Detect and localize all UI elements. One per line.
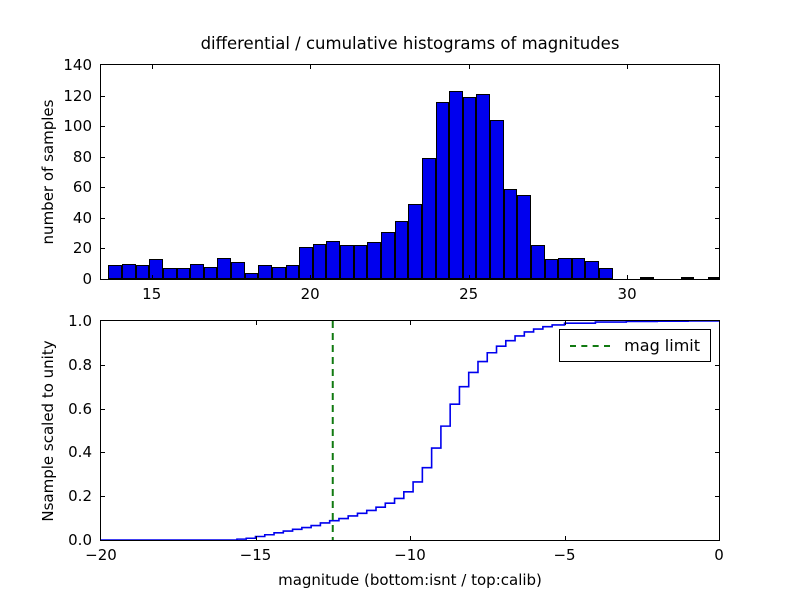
bottom-y-axis-label: Nsample scaled to unity bbox=[39, 340, 57, 521]
histogram-bar bbox=[190, 264, 204, 279]
histogram-bar bbox=[122, 264, 136, 279]
histogram-bar bbox=[286, 265, 300, 279]
y-tick-mark bbox=[715, 248, 719, 249]
histogram-bar bbox=[531, 245, 545, 279]
y-tick-mark bbox=[715, 96, 719, 97]
y-tick-label: 20 bbox=[73, 239, 92, 257]
histogram-bar bbox=[463, 97, 477, 279]
x-axis-label: magnitude (bottom:isnt / top:calib) bbox=[100, 571, 720, 589]
x-tick-mark bbox=[256, 321, 257, 325]
histogram-bar bbox=[517, 195, 531, 279]
histogram-bar bbox=[408, 204, 422, 279]
histogram-bar bbox=[326, 241, 340, 279]
y-tick-label: 0 bbox=[82, 270, 92, 288]
y-tick-mark bbox=[101, 96, 105, 97]
y-tick-mark bbox=[715, 218, 719, 219]
y-tick-mark bbox=[101, 218, 105, 219]
histogram-bar bbox=[272, 267, 286, 279]
y-tick-label: 120 bbox=[63, 87, 92, 105]
histogram-bar bbox=[367, 242, 381, 279]
x-tick-mark bbox=[627, 65, 628, 69]
histogram-bar bbox=[436, 102, 450, 279]
x-tick-label: 30 bbox=[618, 285, 637, 303]
y-tick-mark bbox=[715, 365, 719, 366]
y-tick-label: 0.2 bbox=[68, 487, 92, 505]
x-tick-mark bbox=[469, 275, 470, 279]
histogram-bar bbox=[422, 158, 436, 279]
y-tick-mark bbox=[101, 126, 105, 127]
x-tick-mark bbox=[627, 275, 628, 279]
matplotlib-figure: differential / cumulative histograms of … bbox=[0, 0, 800, 600]
y-tick-label: 1.0 bbox=[68, 312, 92, 330]
y-tick-mark bbox=[715, 409, 719, 410]
y-tick-mark bbox=[715, 452, 719, 453]
histogram-bar bbox=[640, 277, 654, 279]
x-tick-mark bbox=[410, 321, 411, 325]
y-tick-mark bbox=[101, 409, 105, 410]
histogram-bar bbox=[177, 268, 191, 279]
x-tick-label: −20 bbox=[85, 546, 117, 564]
bottom-cumulative-axes: mag limit bbox=[100, 320, 720, 541]
histogram-bar bbox=[354, 245, 368, 279]
histogram-bar bbox=[572, 258, 586, 279]
x-tick-mark bbox=[152, 275, 153, 279]
x-tick-mark bbox=[310, 65, 311, 69]
y-tick-label: 40 bbox=[73, 209, 92, 227]
histogram-bar bbox=[204, 267, 218, 279]
mag-limit-dash-icon bbox=[570, 345, 610, 347]
y-tick-label: 0.6 bbox=[68, 400, 92, 418]
histogram-bar bbox=[217, 258, 231, 279]
histogram-bar bbox=[231, 262, 245, 279]
histogram-bar bbox=[708, 277, 719, 279]
x-tick-mark bbox=[469, 65, 470, 69]
y-tick-mark bbox=[101, 452, 105, 453]
top-histogram-axes bbox=[100, 64, 720, 280]
y-tick-label: 0.8 bbox=[68, 356, 92, 374]
histogram-bar bbox=[258, 265, 272, 279]
histogram-bar bbox=[136, 265, 150, 279]
histogram-bar bbox=[245, 273, 259, 279]
histogram-bar bbox=[313, 244, 327, 279]
histogram-bar bbox=[599, 268, 613, 279]
y-tick-mark bbox=[101, 365, 105, 366]
x-tick-label: 25 bbox=[459, 285, 478, 303]
x-tick-mark bbox=[152, 65, 153, 69]
histogram-bar bbox=[163, 268, 177, 279]
histogram-bar bbox=[449, 91, 463, 279]
histogram-bar bbox=[545, 259, 559, 279]
y-tick-mark bbox=[101, 187, 105, 188]
histogram-bars-layer bbox=[101, 65, 719, 279]
y-tick-mark bbox=[715, 157, 719, 158]
y-tick-mark bbox=[101, 248, 105, 249]
histogram-bar bbox=[585, 261, 599, 279]
x-tick-mark bbox=[410, 536, 411, 540]
x-tick-mark bbox=[256, 536, 257, 540]
x-tick-label: 15 bbox=[142, 285, 161, 303]
page-title: differential / cumulative histograms of … bbox=[100, 34, 720, 53]
x-tick-mark bbox=[565, 536, 566, 540]
x-tick-label: 0 bbox=[714, 546, 724, 564]
x-tick-label: −5 bbox=[553, 546, 575, 564]
x-tick-mark bbox=[565, 321, 566, 325]
histogram-bar bbox=[558, 258, 572, 279]
y-tick-label: 140 bbox=[63, 56, 92, 74]
y-tick-mark bbox=[715, 126, 719, 127]
histogram-bar bbox=[395, 221, 409, 279]
y-tick-mark bbox=[715, 496, 719, 497]
y-tick-label: 80 bbox=[73, 148, 92, 166]
legend-label-mag-limit: mag limit bbox=[624, 336, 700, 355]
y-tick-label: 0.4 bbox=[68, 443, 92, 461]
legend[interactable]: mag limit bbox=[559, 329, 711, 362]
x-tick-mark bbox=[310, 275, 311, 279]
histogram-bar bbox=[381, 232, 395, 279]
y-tick-mark bbox=[101, 157, 105, 158]
x-tick-label: −10 bbox=[394, 546, 426, 564]
histogram-bar bbox=[108, 265, 122, 279]
top-y-axis-label: number of samples bbox=[39, 100, 57, 245]
y-tick-label: 100 bbox=[63, 117, 92, 135]
x-tick-label: −15 bbox=[240, 546, 272, 564]
histogram-bar bbox=[681, 277, 695, 279]
histogram-bar bbox=[490, 120, 504, 279]
y-tick-label: 60 bbox=[73, 178, 92, 196]
histogram-bar bbox=[504, 189, 518, 279]
y-tick-mark bbox=[715, 187, 719, 188]
y-tick-mark bbox=[101, 496, 105, 497]
histogram-bar bbox=[340, 245, 354, 279]
histogram-bar bbox=[476, 94, 490, 279]
x-tick-label: 20 bbox=[301, 285, 320, 303]
